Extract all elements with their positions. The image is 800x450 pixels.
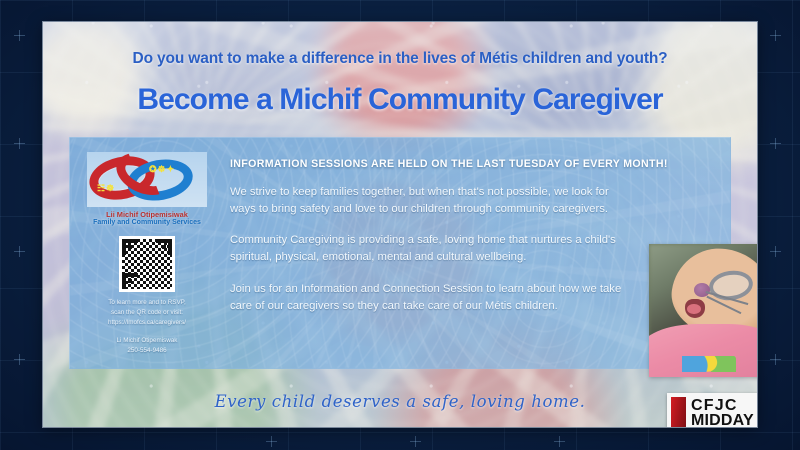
grid-tick-mark (554, 436, 565, 447)
contact-phone: 250-554-9486 (87, 346, 207, 356)
logo-department-text: Family and Community Services (87, 219, 207, 228)
information-panel: ☷☸ ✪☸✦ Lii Michif Otipemisiwak Family an… (69, 137, 731, 369)
grid-tick-mark (410, 436, 421, 447)
question-headline: Do you want to make a difference in the … (43, 50, 757, 68)
grid-tick-mark (14, 30, 25, 41)
qr-instruction-line-2: scan the QR code or visit: (87, 308, 207, 318)
logo-and-qr-column: ☷☸ ✪☸✦ Lii Michif Otipemisiwak Family an… (87, 152, 207, 356)
grid-tick-mark (770, 30, 781, 41)
body-paragraph: We strive to keep families together, but… (230, 184, 630, 218)
qr-instructions: To learn more and to RSVP, scan the QR c… (87, 298, 207, 327)
tagline: Every child deserves a safe, loving home… (43, 392, 757, 411)
logo-org-text: Lii Michif Otipemisiwak (106, 210, 188, 219)
cfjc-midday-logo: CFJC MIDDAY (667, 393, 757, 427)
stick-figure-people-icon: ☷☸ (97, 183, 115, 194)
station-show-name: MIDDAY (691, 412, 754, 427)
child-with-face-paint-photo (649, 244, 757, 377)
body-paragraph: Community Caregiving is providing a safe… (230, 232, 630, 266)
grid-tick-mark (770, 246, 781, 257)
qr-url[interactable]: https://lmofcs.ca/caregivers/ (87, 318, 207, 328)
contact-block: Li Michif Otipemiswak 250-554-9486 (87, 336, 207, 356)
qr-instruction-line-1: To learn more and to RSVP, (87, 298, 207, 308)
headline-block: Do you want to make a difference in the … (43, 50, 757, 117)
grid-tick-mark (770, 354, 781, 365)
body-paragraph: Join us for an Information and Connectio… (230, 281, 630, 315)
lii-michif-logo: ☷☸ ✪☸✦ (87, 152, 207, 207)
red-bar-icon (671, 397, 686, 428)
contact-name: Li Michif Otipemiswak (87, 336, 207, 346)
grid-tick-mark (266, 436, 277, 447)
stick-figure-people-icon: ✪☸✦ (149, 164, 175, 175)
presentation-slide: Do you want to make a difference in the … (43, 22, 757, 427)
logo-organization-name: Lii Michif Otipemisiwak Family and Commu… (87, 210, 207, 228)
body-text-column: INFORMATION SESSIONS ARE HELD ON THE LAS… (230, 158, 712, 315)
sessions-banner: INFORMATION SESSIONS ARE HELD ON THE LAS… (230, 158, 712, 170)
grid-tick-mark (14, 246, 25, 257)
grid-tick-mark (770, 138, 781, 149)
qr-code[interactable] (119, 236, 175, 292)
grid-tick-mark (14, 354, 25, 365)
page-title: Become a Michif Community Caregiver (43, 83, 757, 117)
qr-code-icon (122, 239, 172, 289)
grid-tick-mark (14, 138, 25, 149)
